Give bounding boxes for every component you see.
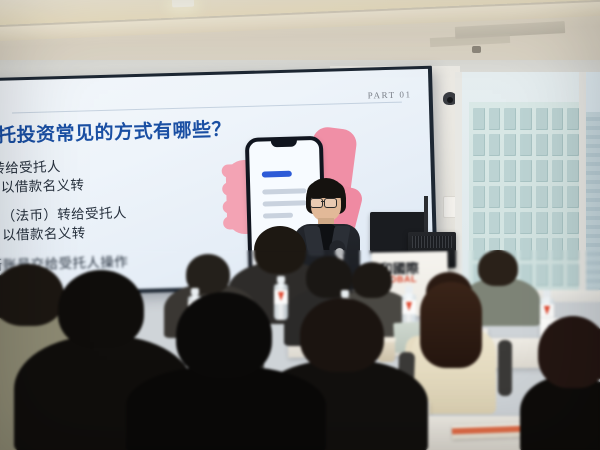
water-bottle	[274, 276, 288, 320]
booklet-band	[452, 426, 528, 435]
attendee-head	[254, 226, 306, 274]
booklet	[452, 423, 528, 440]
ceiling-spotlight-icon	[172, 0, 194, 7]
attendee-head	[176, 292, 272, 378]
ceiling-speaker-icon	[472, 46, 481, 53]
attendee-long-hair	[420, 282, 482, 368]
attendee-head	[58, 270, 144, 348]
microphone-head	[335, 248, 344, 257]
slide-part-label: PART 01	[368, 89, 412, 100]
phone-content-heading	[262, 171, 292, 178]
attendee-head	[0, 264, 64, 326]
attendee-head	[352, 262, 392, 298]
attendee-shoulders	[126, 366, 326, 450]
presentation-photo: PART 01 委托投资常见的方式有哪些？ DT转给受托人 转；以借款名义转 民…	[0, 0, 600, 450]
slide-divider	[12, 101, 403, 113]
phone-notch	[271, 140, 297, 148]
window	[455, 72, 600, 302]
chair-back	[498, 340, 512, 396]
slide-bullets: DT转给受托人 转；以借款名义转 民币（法币）转给受托人 转；以借款名义转 易所…	[0, 153, 225, 276]
glasses-icon	[310, 198, 323, 208]
attendee-head	[538, 316, 600, 388]
attendee-head	[300, 298, 384, 372]
window-mullion-left	[455, 72, 462, 302]
window-mullion-right	[579, 72, 586, 302]
presenter-fringe	[307, 182, 345, 198]
speaker-grille	[412, 236, 452, 248]
glasses-bridge	[321, 201, 325, 202]
ceiling-vent-secondary	[430, 34, 510, 47]
distant-building	[585, 112, 600, 302]
attendee-head	[478, 250, 518, 286]
glasses-icon	[324, 198, 337, 208]
